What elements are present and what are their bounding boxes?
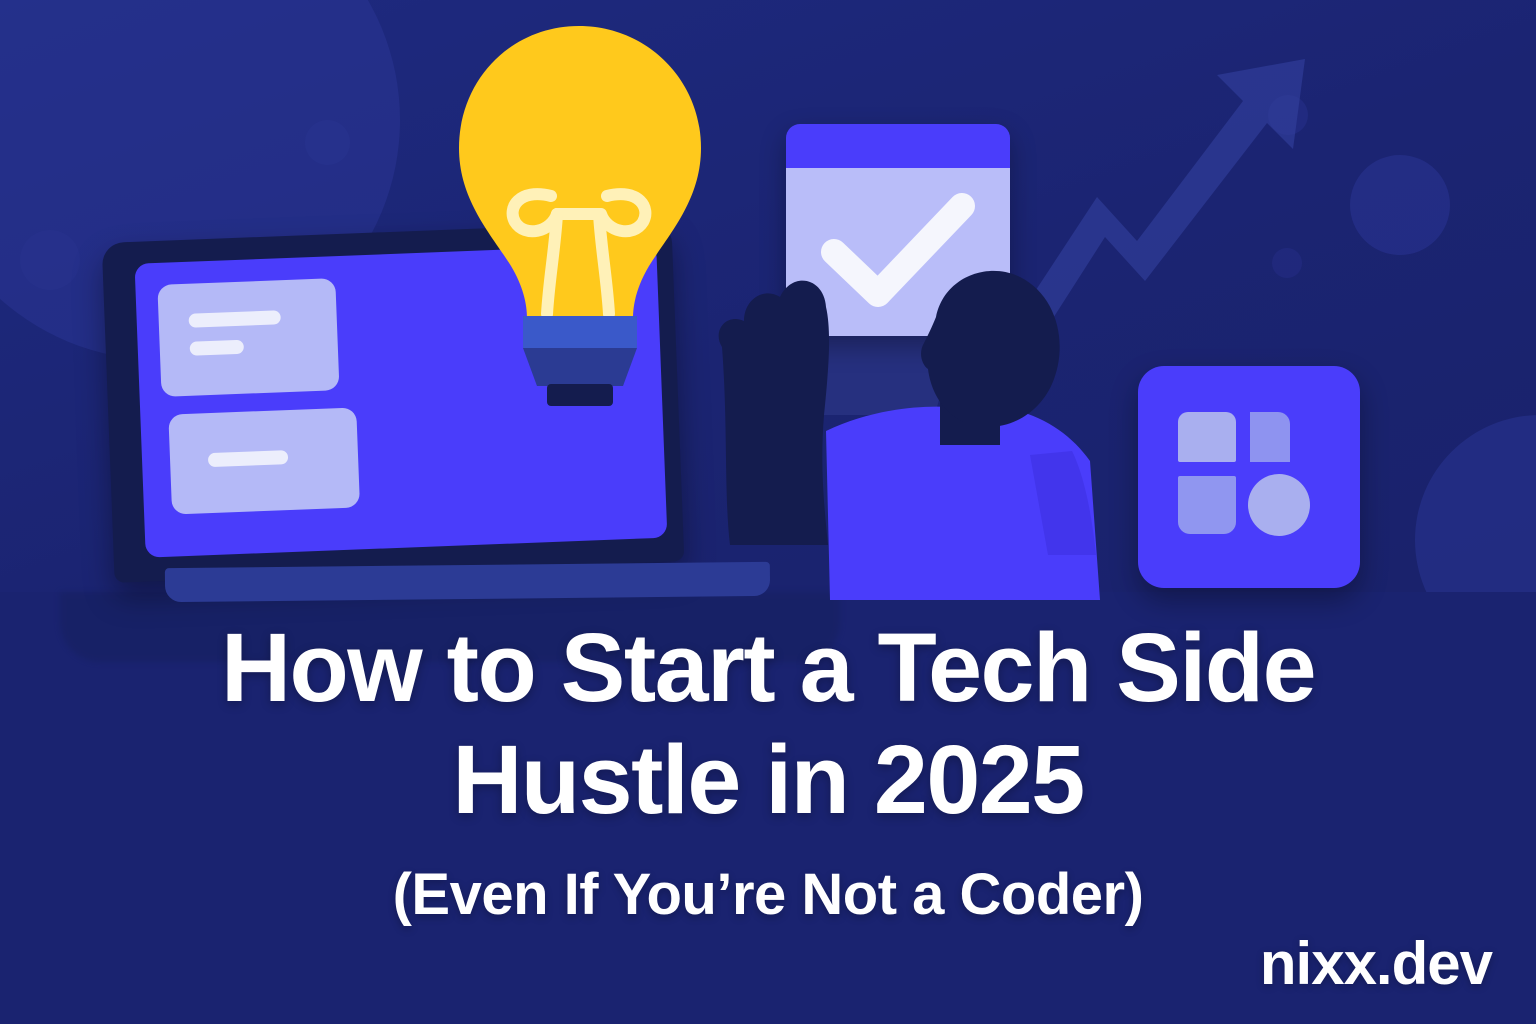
title-line-2: Hustle in 2025 (0, 724, 1536, 836)
grid-shape-circle (1248, 474, 1310, 536)
screen-card-bar (188, 310, 280, 328)
subtitle: (Even If You’re Not a Coder) (0, 862, 1536, 928)
screen-card-bar (208, 450, 288, 467)
screen-card (168, 407, 360, 514)
brand-wordmark: nixx.dev (1260, 929, 1492, 998)
hero-banner: How to Start a Tech Side Hustle in 2025 … (0, 0, 1536, 1024)
screen-card (157, 278, 339, 397)
background-circle (1350, 155, 1450, 255)
headline-block: How to Start a Tech Side Hustle in 2025 … (0, 612, 1536, 928)
person-silhouette (700, 255, 1120, 600)
background-circle (20, 230, 80, 290)
title-line-1: How to Start a Tech Side (0, 612, 1536, 724)
lightbulb-icon (447, 18, 712, 418)
laptop-base (165, 562, 770, 602)
screen-card-bar (190, 340, 244, 356)
grid-shape-square (1178, 412, 1236, 462)
grid-shape-quarter-round (1250, 412, 1290, 462)
apps-grid-card (1138, 366, 1360, 588)
background-circle (305, 120, 350, 165)
card-header (786, 124, 1010, 168)
grid-shape-square (1178, 476, 1236, 534)
